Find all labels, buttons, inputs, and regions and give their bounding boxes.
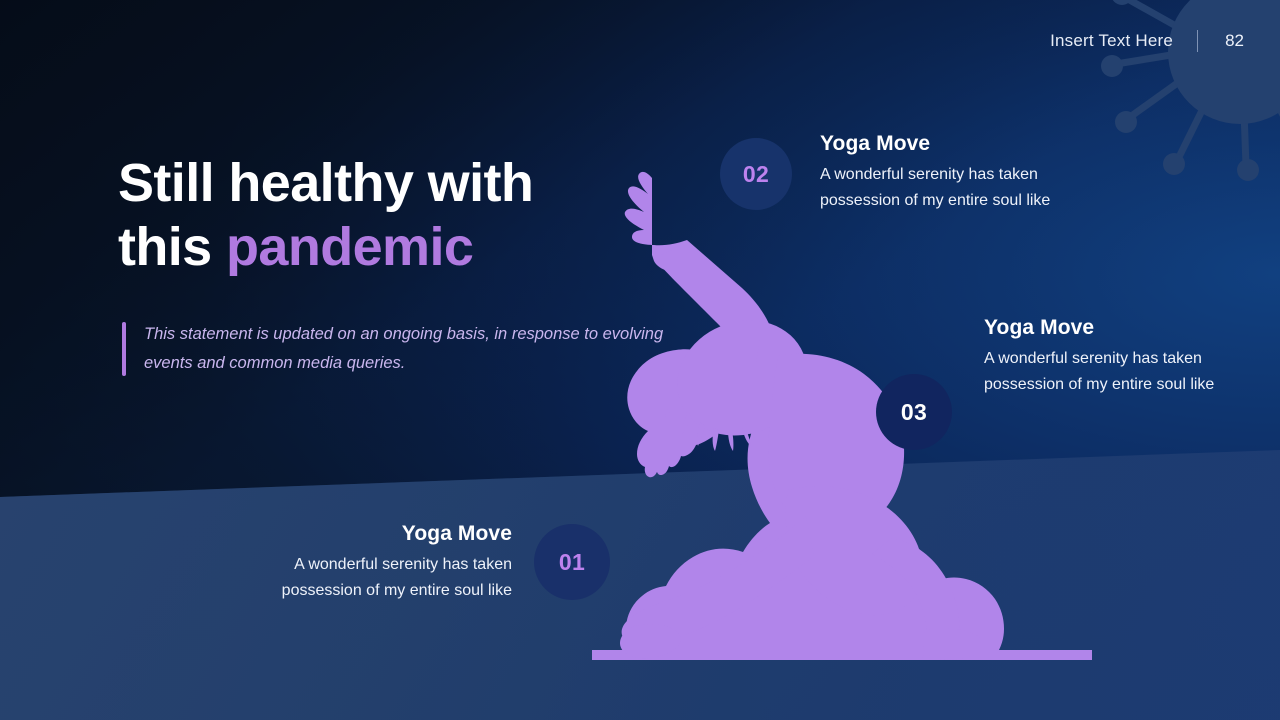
callout-01-body: A wonderful serenity has taken possessio… (232, 552, 512, 603)
callout-01-title: Yoga Move (232, 522, 512, 546)
statement-block: This statement is updated on an ongoing … (122, 320, 664, 378)
callout-01-badge[interactable]: 01 (534, 524, 610, 600)
callout-01-text: Yoga Move A wonderful serenity has taken… (232, 518, 512, 603)
callout-02-text: Yoga Move A wonderful serenity has taken… (820, 132, 1070, 213)
callout-02[interactable]: 02 Yoga Move A wonderful serenity has ta… (720, 132, 1070, 213)
callout-02-badge[interactable]: 02 (720, 138, 792, 210)
header-label[interactable]: Insert Text Here (1050, 31, 1173, 51)
callout-02-title: Yoga Move (820, 132, 1070, 156)
callout-02-body: A wonderful serenity has taken possessio… (820, 162, 1070, 213)
header-divider (1197, 30, 1198, 52)
callout-03-body: A wonderful serenity has taken possessio… (984, 346, 1234, 397)
page-number: 82 (1220, 31, 1244, 51)
page-title: Still healthy with this pandemic (118, 152, 678, 279)
title-line-2-plain: this (118, 217, 226, 277)
callout-03[interactable]: 03 Yoga Move A wonderful serenity has ta… (876, 316, 1234, 450)
slide-header: Insert Text Here 82 (1050, 30, 1244, 52)
title-line-1: Still healthy with (118, 153, 533, 213)
title-line-2-accent: pandemic (226, 217, 473, 277)
statement-text: This statement is updated on an ongoing … (144, 320, 664, 378)
callout-01[interactable]: Yoga Move A wonderful serenity has taken… (232, 518, 610, 603)
callout-03-text: Yoga Move A wonderful serenity has taken… (984, 316, 1234, 397)
callout-03-title: Yoga Move (984, 316, 1234, 340)
slide-canvas: Insert Text Here 82 Still healthy with t… (0, 0, 1280, 720)
callout-03-badge[interactable]: 03 (876, 374, 952, 450)
